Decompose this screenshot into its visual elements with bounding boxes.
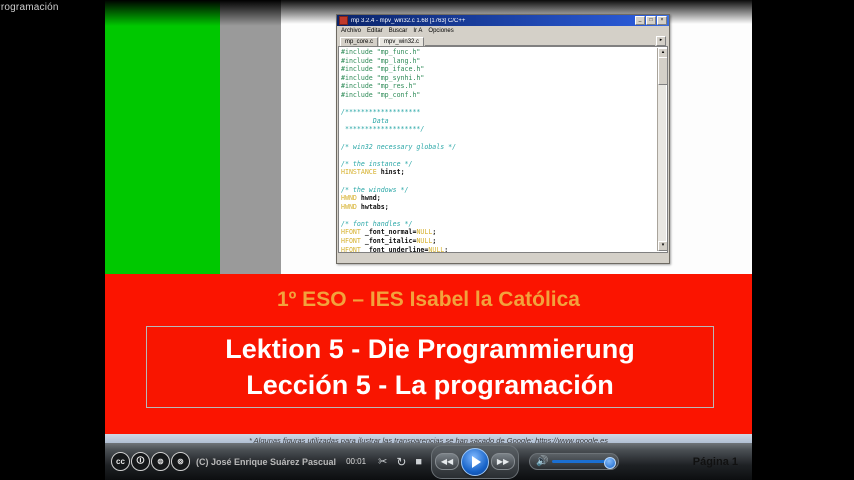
window-buttons[interactable]: _ □ × — [635, 16, 667, 25]
footnote-bar: * Algunas figuras utilizadas para ilustr… — [105, 434, 752, 443]
editor-title-text: mp 3.2.4 - mpv_win32.c 1.68 [1763] C/C++ — [351, 18, 632, 24]
cc-sa-icon: ⊚ — [171, 452, 190, 471]
volume-control[interactable]: 🔊 — [529, 453, 619, 470]
maximize-button[interactable]: □ — [646, 16, 656, 25]
code-text: #include "mp_func.h" #include "mp_lang.h… — [341, 48, 657, 253]
gray-panel — [220, 0, 281, 274]
screen-root: Programación mp 3.2.4 - mpv_win32.c 1.68… — [0, 0, 854, 480]
volume-icon[interactable]: 🔊 — [536, 456, 548, 467]
playback-controls[interactable]: ✂ ↻ ■ ◀◀ ▶▶ — [378, 445, 519, 479]
menu-item-buscar[interactable]: Buscar — [389, 28, 408, 34]
forward-button[interactable]: ▶▶ — [491, 453, 515, 470]
tab-scroll-right-icon[interactable]: ▸ — [656, 36, 666, 46]
stop-button[interactable]: ■ — [415, 456, 422, 468]
cc-icon: cc — [111, 452, 130, 471]
scroll-down-icon[interactable]: ▾ — [658, 241, 668, 251]
creative-commons-badges: cc 🛈 ⊜ ⊚ — [111, 452, 190, 471]
slide-title-box: Lektion 5 - Die Programmierung Lección 5… — [146, 326, 714, 408]
editor-vertical-scrollbar[interactable]: ▴ ▾ — [657, 48, 666, 251]
slide-stage: mp 3.2.4 - mpv_win32.c 1.68 [1763] C/C++… — [105, 0, 752, 443]
cut-icon[interactable]: ✂ — [378, 455, 387, 468]
player-control-bar[interactable]: cc 🛈 ⊜ ⊚ (C) José Enrique Suárez Pascual… — [105, 443, 752, 480]
editor-tab-strip[interactable]: mp_core.c mpv_win32.c ▸ — [337, 35, 669, 46]
app-icon — [339, 16, 348, 25]
menu-item-editar[interactable]: Editar — [367, 28, 383, 34]
close-button[interactable]: × — [657, 16, 667, 25]
page-indicator: Página 1 — [693, 456, 738, 468]
play-triangle-icon — [472, 456, 481, 468]
red-banner: 1º ESO – IES Isabel la Católica Lektion … — [105, 274, 752, 443]
cc-nc-icon: ⊜ — [151, 452, 170, 471]
time-display: 00:01 — [346, 457, 366, 466]
loop-icon[interactable]: ↻ — [396, 455, 406, 469]
green-panel-fade — [105, 0, 220, 26]
play-button[interactable] — [461, 448, 489, 476]
slide-subtitle: 1º ESO – IES Isabel la Católica — [105, 288, 752, 312]
editor-title-bar[interactable]: mp 3.2.4 - mpv_win32.c 1.68 [1763] C/C++… — [337, 15, 669, 26]
editor-menu-bar[interactable]: Archivo Editar Buscar Ir A Opciones — [337, 26, 669, 35]
minimize-button[interactable]: _ — [635, 16, 645, 25]
tab-strip-filler — [425, 36, 655, 46]
slide-title-spanish: Lección 5 - La programación — [246, 367, 614, 403]
volume-slider[interactable] — [552, 460, 612, 463]
author-label: (C) José Enrique Suárez Pascual — [196, 457, 336, 467]
tab-mp-core-c[interactable]: mp_core.c — [340, 37, 378, 46]
menu-item-archivo[interactable]: Archivo — [341, 28, 361, 34]
tab-mpv-win32-c[interactable]: mpv_win32.c — [379, 37, 424, 46]
gray-panel-fade — [220, 0, 281, 26]
rewind-button[interactable]: ◀◀ — [435, 453, 459, 470]
green-panel — [105, 0, 220, 274]
volume-slider-knob[interactable] — [604, 457, 616, 469]
menu-item-opciones[interactable]: Opciones — [428, 28, 453, 34]
menu-item-ira[interactable]: Ir A — [413, 28, 422, 34]
footnote-text: * Algunas figuras utilizadas para ilustr… — [105, 434, 752, 443]
scroll-thumb[interactable] — [658, 57, 668, 85]
editor-code-area[interactable]: #include "mp_func.h" #include "mp_lang.h… — [338, 46, 668, 253]
transport-pill[interactable]: ◀◀ ▶▶ — [431, 445, 519, 479]
slide-title-german: Lektion 5 - Die Programmierung — [225, 331, 635, 367]
code-editor-window[interactable]: mp 3.2.4 - mpv_win32.c 1.68 [1763] C/C++… — [336, 14, 670, 264]
cc-by-icon: 🛈 — [131, 452, 150, 471]
